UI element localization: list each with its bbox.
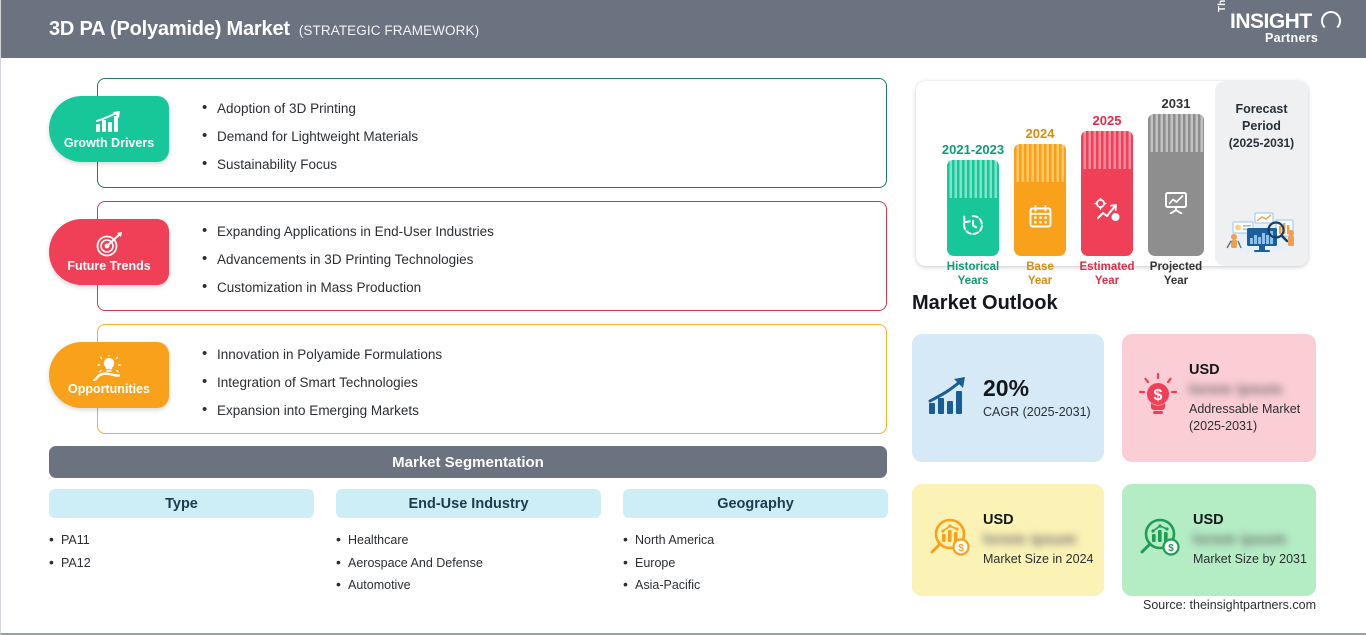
- list-item: Innovation in Polyamide Formulations: [202, 341, 862, 369]
- forecast-period-text: Forecast Period (2025-2031): [1215, 101, 1308, 152]
- outlook-card-addressable-market: $ USD lorem ipsum Addressable Market (20…: [1122, 334, 1316, 462]
- timeline-bar-stripes: [1148, 114, 1204, 152]
- list-item: Healthcare: [336, 529, 601, 552]
- list-item: Demand for Lightweight Materials: [202, 123, 862, 151]
- timeline-bar-solid: [1148, 152, 1204, 256]
- outlook-card-cagr: 20% CAGR (2025-2031): [912, 334, 1104, 462]
- forecast-line-2: Period: [1215, 118, 1308, 135]
- timeline-caption-line2: Years: [958, 275, 989, 287]
- target-dart-icon: [94, 232, 124, 258]
- outlook-card-body: USD lorem ipsum Addressable Market (2025…: [1189, 362, 1316, 435]
- forecast-line-1: Forecast: [1215, 101, 1308, 118]
- strategy-panel-future-trends: Expanding Applications in End-User Indus…: [97, 201, 887, 311]
- strategy-row-growth-drivers: Adoption of 3D Printing Demand for Light…: [1, 66, 901, 184]
- insight-partners-logo: The INSIGHT Partners: [1217, 9, 1345, 51]
- forecast-timeline-card: 2021-2023 HistoricalYears 2024: [916, 81, 1308, 266]
- market-outlook-title: Market Outlook: [912, 292, 1058, 315]
- market-size-2024-label: Market Size in 2024: [983, 551, 1093, 568]
- strategy-panel-growth-drivers: Adoption of 3D Printing Demand for Light…: [97, 78, 887, 188]
- segmentation-column-type: Type PA11 PA12: [49, 489, 314, 574]
- analytics-dashboard-illustration: [1221, 200, 1303, 256]
- strategy-panel-opportunities: Innovation in Polyamide Formulations Int…: [97, 324, 887, 434]
- list-item: Europe: [623, 552, 888, 575]
- currency-label: USD: [1189, 362, 1316, 378]
- currency-label: USD: [1193, 512, 1307, 528]
- strategy-row-opportunities: Innovation in Polyamide Formulations Int…: [1, 312, 901, 430]
- timeline-bar-projected: 2031 ProjectedYear: [1148, 114, 1204, 256]
- timeline-caption: ProjectedYear: [1150, 260, 1202, 288]
- market-size-2031-label: Market Size by 2031: [1193, 551, 1307, 568]
- badge-label: Future Trends: [67, 259, 150, 273]
- list-item: Adoption of 3D Printing: [202, 95, 862, 123]
- list-item: Advancements in 3D Printing Technologies: [202, 246, 862, 274]
- addressable-market-label: Addressable Market (2025-2031): [1189, 401, 1316, 435]
- bar-chart-arrow-icon: [94, 109, 124, 135]
- segmentation-list-type: PA11 PA12: [49, 529, 314, 574]
- blurred-value: lorem ipsum: [1193, 531, 1307, 548]
- lightbulb-dollar-icon: $: [1137, 373, 1179, 424]
- badge-future-trends[interactable]: Future Trends: [49, 219, 169, 285]
- badge-growth-drivers[interactable]: Growth Drivers: [49, 96, 169, 162]
- timeline-bar-estimated: 2025 EstimatedYear: [1081, 131, 1133, 256]
- timeline-bar-solid: [1081, 169, 1133, 256]
- timeline-caption-line1: Projected: [1150, 261, 1202, 273]
- list-item: Expanding Applications in End-User Indus…: [202, 218, 862, 246]
- list-item: PA12: [49, 552, 314, 575]
- timeline-bar-solid: [1014, 182, 1066, 256]
- header-title-wrap: 3D PA (Polyamide) Market (STRATEGIC FRAM…: [49, 18, 479, 41]
- timeline-bar: [1014, 144, 1066, 256]
- segmentation-column-end-use-industry: End-Use Industry Healthcare Aerospace An…: [336, 489, 601, 597]
- bullet-list-opportunities: Innovation in Polyamide Formulations Int…: [202, 341, 862, 425]
- segmentation-list-end-use-industry: Healthcare Aerospace And Defense Automot…: [336, 529, 601, 597]
- timeline-bar-historical: 2021-2023 HistoricalYears: [947, 160, 999, 256]
- list-item: North America: [623, 529, 888, 552]
- source-attribution: Source: theinsightpartners.com: [1143, 598, 1316, 612]
- market-segmentation-title: Market Segmentation: [49, 446, 887, 478]
- timeline-bar-solid: [947, 198, 999, 256]
- svg-text:$: $: [958, 543, 964, 554]
- forecast-line-3: (2025-2031): [1215, 135, 1308, 152]
- timeline-caption-line1: Historical: [947, 261, 999, 273]
- segmentation-header: Geography: [623, 489, 888, 518]
- timeline-bar: [1081, 131, 1133, 256]
- outlook-card-body: USD lorem ipsum Market Size by 2031: [1193, 512, 1307, 568]
- page-title: 3D PA (Polyamide) Market: [49, 18, 290, 41]
- timeline-bar: [1148, 114, 1204, 256]
- outlook-card-market-size-2031: $ USD lorem ipsum Market Size by 2031: [1122, 484, 1316, 596]
- timeline-caption-line2: Year: [1095, 275, 1119, 287]
- badge-opportunities[interactable]: Opportunities: [49, 342, 169, 408]
- strategy-row-future-trends: Expanding Applications in End-User Indus…: [1, 189, 901, 307]
- forecast-period-panel: Forecast Period (2025-2031): [1215, 81, 1308, 266]
- blurred-value: lorem ipsum: [1189, 381, 1316, 398]
- list-item: Aerospace And Defense: [336, 552, 601, 575]
- magnifier-chart-dollar-icon: $: [927, 516, 973, 565]
- magnifier-chart-dollar-icon: $: [1137, 516, 1183, 565]
- list-item: Integration of Smart Technologies: [202, 369, 862, 397]
- timeline-year-label: 2024: [1026, 126, 1055, 141]
- clock-history-icon: [960, 212, 986, 243]
- segmentation-header: End-Use Industry: [336, 489, 601, 518]
- timeline-caption: HistoricalYears: [947, 260, 999, 288]
- timeline-year-label: 2025: [1093, 113, 1122, 128]
- timeline-year-label: 2021-2023: [942, 142, 1004, 157]
- calendar-icon: [1028, 204, 1053, 234]
- list-item: PA11: [49, 529, 314, 552]
- timeline-caption-line1: Estimated: [1080, 261, 1135, 273]
- timeline-bar-stripes: [1081, 131, 1133, 169]
- timeline-year-label: 2031: [1162, 96, 1191, 111]
- svg-text:$: $: [1154, 387, 1163, 404]
- cagr-label: CAGR (2025-2031): [983, 404, 1091, 421]
- timeline-caption-line2: Year: [1028, 275, 1052, 287]
- currency-label: USD: [983, 512, 1093, 528]
- svg-text:$: $: [1168, 543, 1174, 554]
- timeline-bar-stripes: [947, 160, 999, 198]
- timeline-caption: BaseYear: [1026, 260, 1054, 288]
- bullet-list-future-trends: Expanding Applications in End-User Indus…: [202, 218, 862, 302]
- segmentation-column-geography: Geography North America Europe Asia-Paci…: [623, 489, 888, 597]
- timeline-bar: [947, 160, 999, 256]
- lightbulb-hand-icon: [93, 355, 125, 381]
- segmentation-list-geography: North America Europe Asia-Pacific: [623, 529, 888, 597]
- blurred-value: lorem ipsum: [983, 531, 1093, 548]
- list-item: Customization in Mass Production: [202, 274, 862, 302]
- segmentation-header: Type: [49, 489, 314, 518]
- timeline-caption-line1: Base: [1026, 261, 1054, 273]
- page-subtitle: (STRATEGIC FRAMEWORK): [299, 23, 479, 38]
- list-item: Expansion into Emerging Markets: [202, 397, 862, 425]
- badge-label: Opportunities: [68, 382, 150, 396]
- bullet-list-growth-drivers: Adoption of 3D Printing Demand for Light…: [202, 95, 862, 179]
- infographic-page: 3D PA (Polyamide) Market (STRATEGIC FRAM…: [0, 0, 1366, 635]
- presentation-chart-icon: [1163, 190, 1189, 219]
- growth-bar-chart-icon: [927, 375, 973, 422]
- outlook-card-market-size-2024: $ USD lorem ipsum Market Size in 2024: [912, 484, 1104, 596]
- list-item: Automotive: [336, 574, 601, 597]
- timeline-bar-base: 2024: [1014, 144, 1066, 256]
- badge-label: Growth Drivers: [64, 136, 154, 150]
- page-header: 3D PA (Polyamide) Market (STRATEGIC FRAM…: [1, 0, 1366, 58]
- timeline-bar-stripes: [1014, 144, 1066, 182]
- outlook-card-body: USD lorem ipsum Market Size in 2024: [983, 512, 1093, 568]
- timeline-caption: EstimatedYear: [1080, 260, 1135, 288]
- logo-partners-text: Partners: [1265, 31, 1318, 45]
- cagr-value: 20%: [983, 375, 1091, 402]
- list-item: Asia-Pacific: [623, 574, 888, 597]
- timeline-caption-line2: Year: [1164, 275, 1188, 287]
- logo-circle-icon: [1321, 11, 1341, 31]
- forecast-chart-icon: [1094, 198, 1121, 227]
- list-item: Sustainability Focus: [202, 151, 862, 179]
- logo-the-text: The: [1217, 0, 1228, 12]
- outlook-card-body: 20% CAGR (2025-2031): [983, 375, 1091, 421]
